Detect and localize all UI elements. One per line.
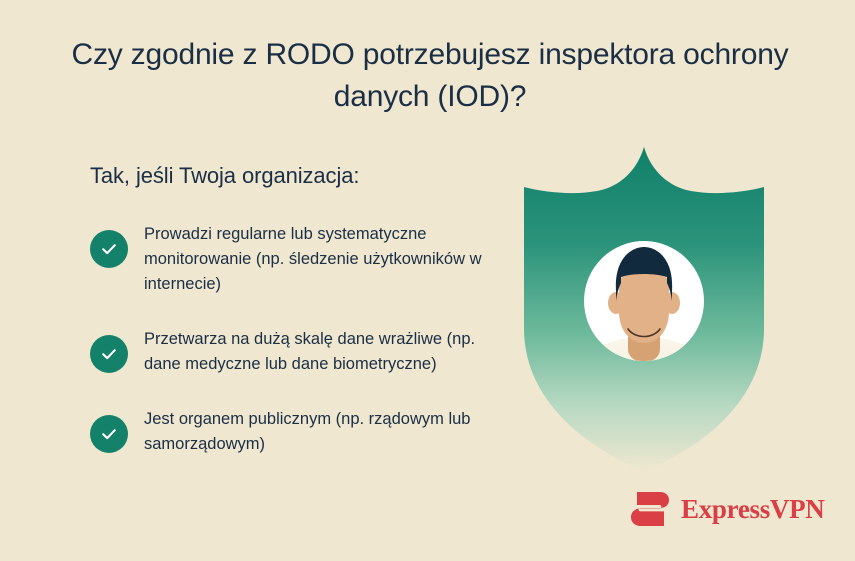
section-subtitle: Tak, jeśli Twoja organizacja: <box>90 163 359 189</box>
list-item: Prowadzi regularne lub systematyczne mon… <box>90 216 510 297</box>
infographic-root: Czy zgodnie z RODO potrzebujesz inspekto… <box>0 0 855 561</box>
expressvpn-wordmark: ExpressVPN <box>681 496 825 523</box>
shield-with-person-icon <box>515 143 773 475</box>
check-icon <box>90 335 128 373</box>
list-item: Przetwarza na dużą skalę dane wrażliwe (… <box>90 321 510 377</box>
check-icon <box>90 230 128 268</box>
page-title: Czy zgodnie z RODO potrzebujesz inspekto… <box>60 34 800 118</box>
expressvpn-e-mark-icon <box>629 489 671 529</box>
list-item-label: Jest organem publicznym (np. rządowym lu… <box>144 401 510 457</box>
list-item-label: Przetwarza na dużą skalę dane wrażliwe (… <box>144 321 510 377</box>
check-icon <box>90 415 128 453</box>
expressvpn-logo: ExpressVPN <box>629 489 825 529</box>
list-item-label: Prowadzi regularne lub systematyczne mon… <box>144 216 510 297</box>
criteria-list: Prowadzi regularne lub systematyczne mon… <box>90 216 510 482</box>
list-item: Jest organem publicznym (np. rządowym lu… <box>90 401 510 457</box>
